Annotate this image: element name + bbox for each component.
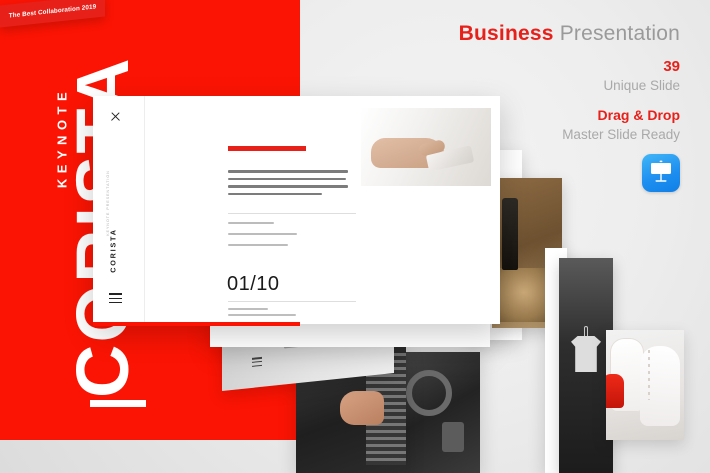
tshirt-shape: [571, 336, 601, 372]
sneakers-photo[interactable]: [606, 330, 684, 440]
slide-number: 01/10: [227, 273, 280, 296]
red-accent-bar: [228, 146, 306, 151]
header-info-block: Business Presentation 39 Unique Slide Dr…: [459, 22, 680, 143]
main-footer-text: [228, 308, 338, 321]
main-divider-top: [228, 213, 356, 214]
stat-label-count: Unique Slide: [459, 77, 680, 95]
headline-light: Presentation: [560, 22, 680, 45]
red-accent-shape: [606, 374, 624, 408]
main-meta-list: [228, 222, 324, 255]
brand-rule-divider: [90, 400, 146, 407]
hanger-shape: [584, 326, 588, 337]
wine-bottle-shape: [502, 198, 518, 270]
sneaker-lace-shape: [648, 350, 650, 400]
close-icon[interactable]: [110, 111, 121, 122]
stat-value-count: 39: [459, 58, 680, 77]
main-slide-red-foot: [93, 322, 300, 326]
bolt-shape: [442, 422, 464, 452]
slide-vertical-subtitle: KEYNOTE PRESENTATION: [106, 170, 110, 236]
brand-subtitle: KEYNOTE: [55, 73, 70, 203]
hand-shape: [340, 391, 384, 425]
main-divider-bottom: [228, 301, 356, 302]
tshirt-photo[interactable]: [559, 258, 613, 473]
presentation-preview-canvas: CORISTA KEYNOTE: [0, 0, 710, 473]
stat-drag-drop: Drag & Drop Master Slide Ready: [459, 106, 680, 143]
main-lead-paragraph: [228, 170, 348, 200]
stat-value-drag: Drag & Drop: [459, 106, 680, 126]
keynote-icon[interactable]: [642, 154, 680, 192]
gear-shape: [406, 370, 452, 416]
hamburger-menu-icon[interactable]: [109, 293, 122, 306]
banner-label: The Best Collaboration 2019: [9, 3, 96, 19]
stat-label-drag: Master Slide Ready: [459, 126, 680, 144]
stat-unique-slide: 39 Unique Slide: [459, 58, 680, 94]
sneaker-right-shape: [640, 346, 680, 426]
main-cover-slide[interactable]: CORISTA KEYNOTE PRESENTATION 01/10: [93, 96, 500, 324]
headline-bold: Business: [459, 22, 554, 45]
hamburger-menu-icon[interactable]: [252, 357, 262, 369]
vertical-divider: [144, 96, 145, 324]
headline: Business Presentation: [459, 22, 680, 46]
